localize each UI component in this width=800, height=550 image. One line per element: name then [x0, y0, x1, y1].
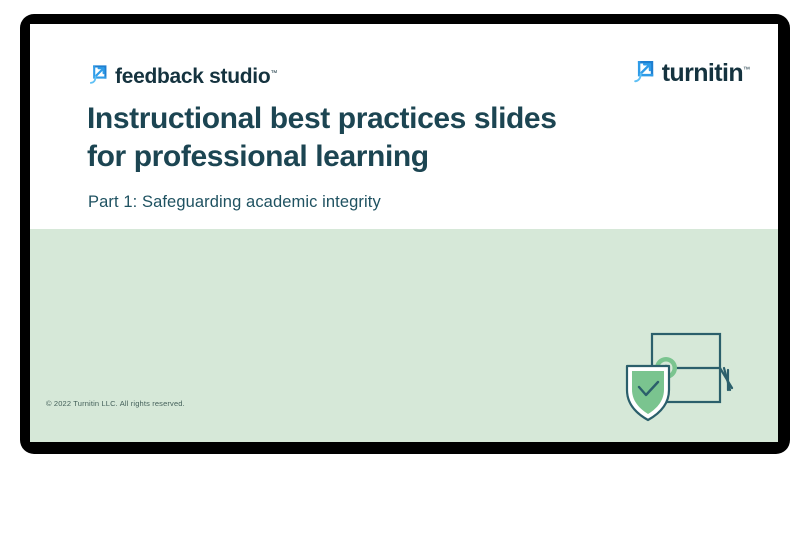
page-subtitle: Part 1: Safeguarding academic integrity — [88, 193, 381, 212]
turnitin-logo: turnitin™ — [632, 58, 750, 89]
feedback-studio-wordmark: feedback studio™ — [115, 66, 277, 87]
turnitin-wordmark: turnitin™ — [662, 61, 750, 86]
external-link-square-icon — [88, 63, 108, 90]
copyright-notice: © 2022 Turnitin LLC. All rights reserved… — [46, 399, 185, 408]
title-line-2: for professional learning — [87, 138, 647, 176]
page-title: Instructional best practices slides for … — [87, 100, 647, 177]
trademark-symbol: ™ — [270, 70, 277, 77]
slide-canvas: feedback studio™ turnitin™ Instructional… — [30, 24, 778, 442]
shield-check-icon — [627, 366, 669, 420]
screenshot-stage: feedback studio™ turnitin™ Instructional… — [0, 0, 800, 550]
pointer-lines — [720, 368, 732, 390]
feedback-studio-logo: feedback studio™ — [88, 63, 277, 90]
external-link-square-icon — [632, 58, 655, 89]
trademark-symbol: ™ — [743, 67, 750, 74]
security-shield-document-illustration — [620, 322, 760, 432]
title-line-1: Instructional best practices slides — [87, 100, 647, 138]
